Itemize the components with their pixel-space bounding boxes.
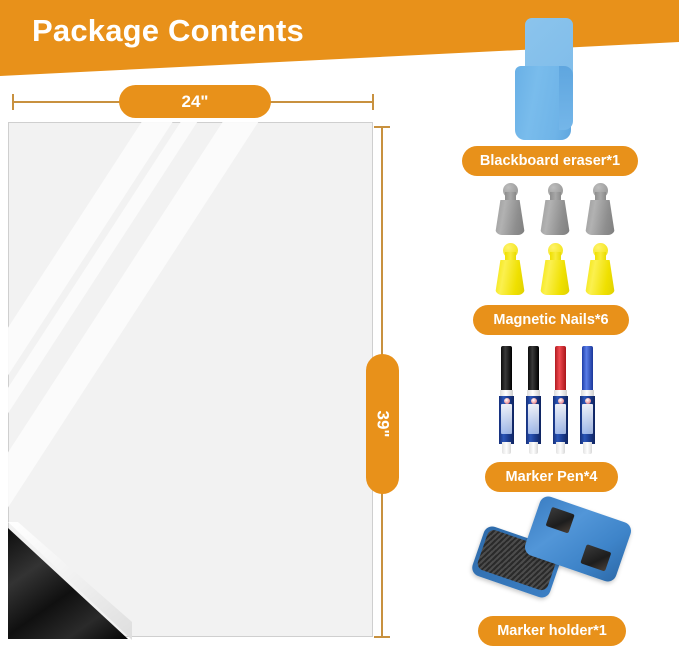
marker-tip [556, 442, 565, 454]
marker-tip [529, 442, 538, 454]
marker-label-band [528, 404, 539, 434]
eraser-icon [515, 18, 575, 140]
pin-body [585, 260, 615, 295]
marker-cap [528, 346, 539, 392]
dimension-end-cap [374, 126, 390, 128]
holder-label: Marker holder*1 [478, 616, 626, 646]
height-label: 39" [366, 354, 399, 494]
marker-tip [583, 442, 592, 454]
dimension-end-cap [372, 94, 374, 110]
push-pin-icon [540, 243, 570, 295]
pin-body [540, 260, 570, 295]
height-dimension: 39" [374, 126, 390, 638]
marker-cap [582, 346, 593, 392]
marker-label-band [582, 404, 593, 434]
glare-streak [8, 122, 264, 607]
push-pin-icon [495, 243, 525, 295]
accessories-column: Blackboard eraser*1 Magnetic Nails*6 [440, 0, 679, 647]
pin-body [585, 200, 615, 235]
dimension-end-cap [374, 636, 390, 638]
width-label: 24" [119, 85, 271, 118]
push-pin-icon [540, 183, 570, 235]
eraser-label: Blackboard eraser*1 [462, 146, 638, 176]
whiteboard-glare-group [8, 122, 373, 637]
nails-label: Magnetic Nails*6 [473, 305, 629, 335]
marker-cap [555, 346, 566, 392]
marker-pen-icon [579, 346, 596, 454]
marker-tip [502, 442, 511, 454]
eraser-side [559, 66, 573, 130]
dimension-end-cap [12, 94, 14, 110]
pin-body [495, 260, 525, 295]
height-label-text: 39" [372, 411, 392, 438]
width-dimension: 24" [12, 94, 374, 110]
markers-label: Marker Pen*4 [485, 462, 618, 492]
pin-body [540, 200, 570, 235]
push-pin-icon [495, 183, 525, 235]
holder-magnet-inset [546, 507, 575, 534]
page-title: Package Contents [32, 12, 304, 50]
glare-streak [8, 122, 319, 615]
marker-holder-icon [468, 500, 648, 600]
marker-label-band [501, 404, 512, 434]
pin-body [495, 200, 525, 235]
holder-magnet-inset [580, 544, 611, 571]
marker-pen-icon [552, 346, 569, 454]
marker-label-band [555, 404, 566, 434]
whiteboard-illustration [8, 122, 373, 637]
marker-cap [501, 346, 512, 392]
marker-pen-icon [498, 346, 515, 454]
marker-pen-icon [525, 346, 542, 454]
push-pin-icon [585, 243, 615, 295]
push-pin-icon [585, 183, 615, 235]
